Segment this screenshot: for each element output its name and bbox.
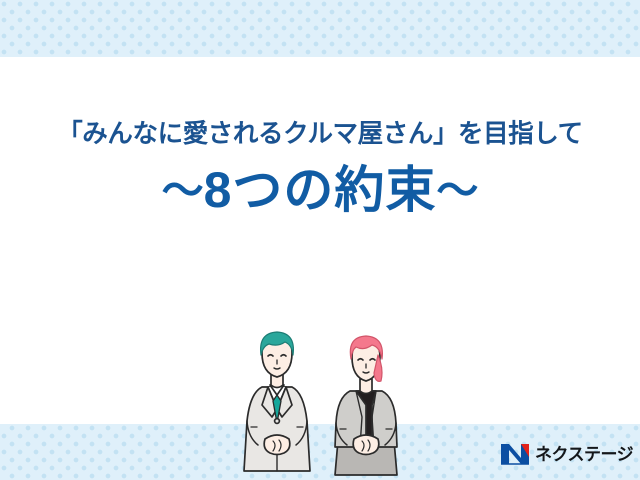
male-staff-figure (244, 332, 310, 471)
content-panel: 「みんなに愛されるクルマ屋さん」を目指して 〜8つの約束〜 (0, 57, 640, 424)
wave-dash-left: 〜 (162, 167, 204, 214)
nextage-n-mark (500, 443, 530, 465)
two-bowing-staff-illustration (232, 325, 412, 480)
nextage-logo-text: ネクステージ (535, 446, 633, 463)
headline-line-1: 「みんなに愛されるクルマ屋さん」を目指して (0, 57, 640, 148)
female-staff-figure (335, 336, 397, 475)
headline-block: 「みんなに愛されるクルマ屋さん」を目指して 〜8つの約束〜 (0, 57, 640, 215)
nextage-logo: ネクステージ (500, 439, 632, 469)
wave-dash-right: 〜 (436, 167, 478, 214)
promo-banner: 「みんなに愛されるクルマ屋さん」を目指して 〜8つの約束〜 (0, 0, 640, 480)
headline-line-2-text: 8つの約束 (204, 162, 437, 218)
headline-line-2: 〜8つの約束〜 (0, 148, 640, 215)
